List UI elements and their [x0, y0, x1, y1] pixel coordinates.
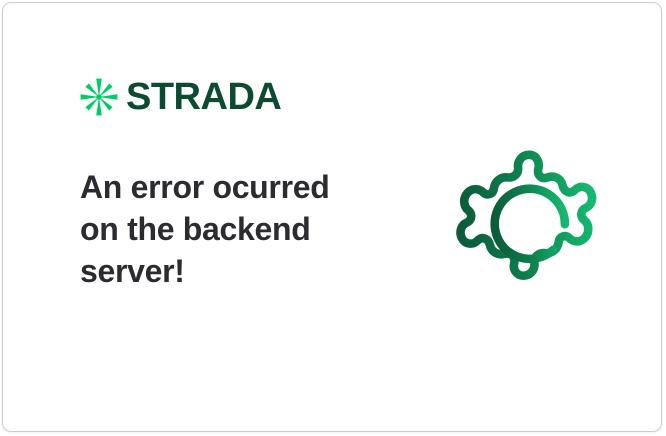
brand-wordmark: STRADA [126, 78, 281, 116]
strada-asterisk-icon [79, 77, 119, 117]
brand-lockup: STRADA [79, 75, 281, 119]
error-card: STRADA An error ocurred on the backend s… [2, 2, 662, 432]
error-message: An error ocurred on the backend server! [80, 166, 370, 293]
